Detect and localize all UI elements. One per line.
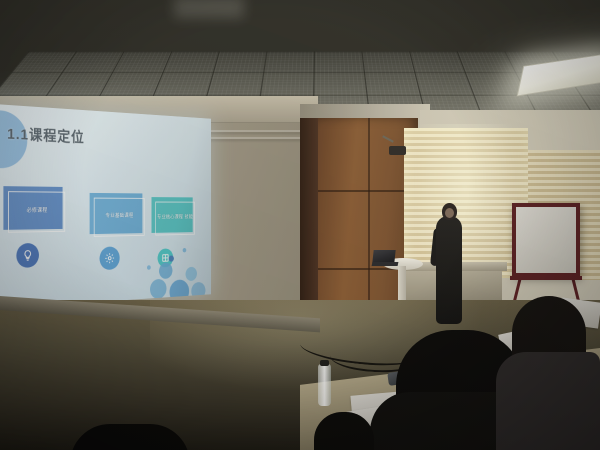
presenter-standing	[436, 216, 462, 324]
slide-bubble	[186, 267, 197, 281]
slide-bubble	[169, 255, 174, 261]
wall-mounted-speaker	[389, 146, 406, 155]
slide-card-1: 必修课程	[3, 186, 62, 230]
slide-card-3: 专业核心课程 技能	[152, 197, 193, 233]
audience-member-foreground-right-body	[496, 352, 600, 450]
slide-bubble	[147, 265, 151, 270]
presenter-face	[445, 208, 454, 218]
slide-card-1-label: 必修课程	[27, 208, 48, 215]
slide-card-2-label: 专业基础课程	[105, 214, 133, 221]
card-inner-border: 专业基础课程	[94, 198, 145, 237]
slide-bubble	[183, 248, 187, 252]
card-inner-border: 专业核心课程 技能	[155, 202, 195, 236]
window-blinds	[404, 128, 528, 278]
laptop-base	[372, 262, 399, 266]
slide-title: 1.1课程定位	[7, 123, 84, 147]
card-inner-border: 必修课程	[8, 191, 65, 233]
water-bottle	[318, 364, 331, 406]
water-bottle-cap	[320, 360, 329, 366]
classroom-photo: 1.1课程定位 必修课程 专业基础课程 专业核心课程 技能	[0, 0, 600, 450]
slide-bubble	[159, 262, 172, 279]
slide-card-3-label: 专业核心课程 技能	[157, 215, 193, 222]
ceiling-light-glow	[174, 0, 244, 18]
projection-screen: 1.1课程定位 必修课程 专业基础课程 专业核心课程 技能	[0, 104, 211, 309]
gear-icon	[100, 246, 120, 270]
slide-card-2: 专业基础课程	[90, 193, 143, 234]
lightbulb-icon	[16, 243, 39, 268]
flipchart-paper	[516, 207, 576, 273]
slide-bubble	[150, 279, 167, 300]
flipchart-tray	[510, 276, 582, 280]
